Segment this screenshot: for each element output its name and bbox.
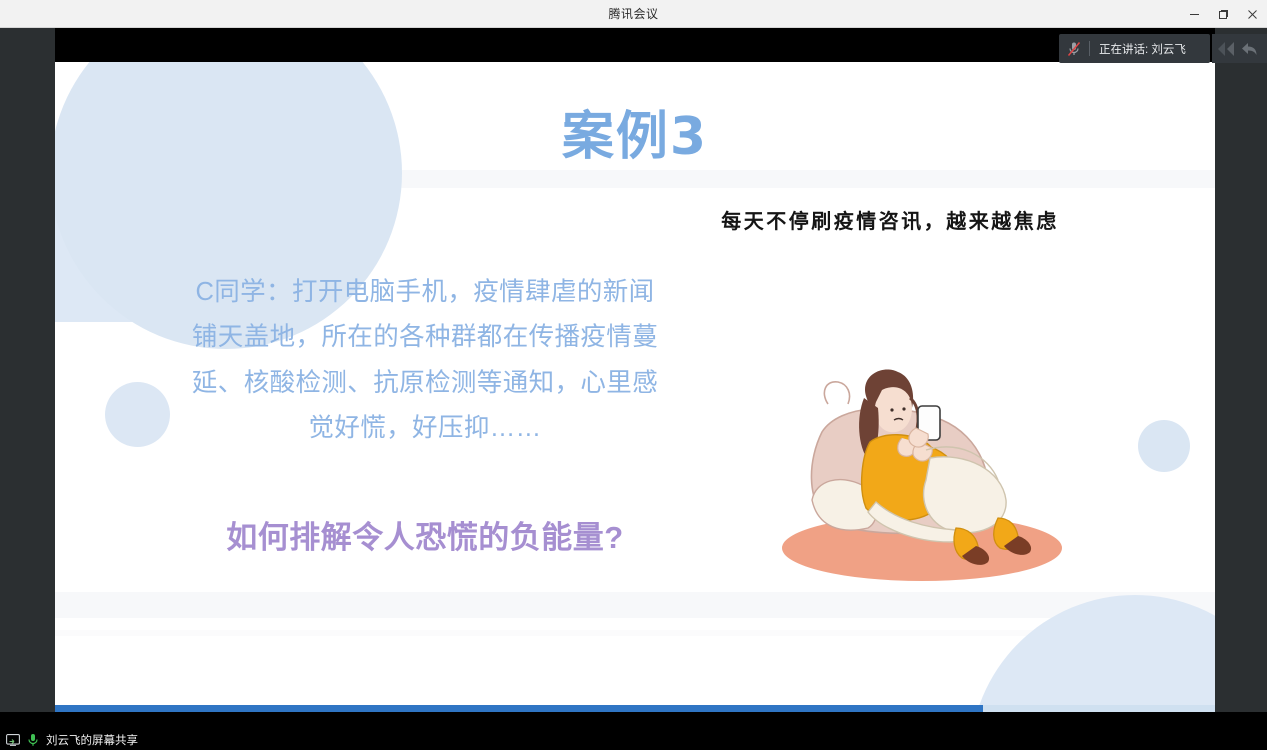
double-chevron-left-icon[interactable]: [1215, 41, 1237, 57]
slide-band-bottom: [55, 592, 1215, 618]
active-speaker-overlay[interactable]: 正在讲话: 刘云飞: [1059, 34, 1210, 63]
slide-body-text: C同学：打开电脑手机，疫情肆虐的新闻铺天盖地，所在的各种群都在传播疫情蔓延、核酸…: [185, 270, 665, 452]
decor-circle-right: [1138, 420, 1190, 472]
slide-title: 案例3: [55, 94, 1215, 169]
close-icon: [1247, 9, 1258, 20]
window-titlebar: 腾讯会议: [0, 0, 1267, 28]
taskbar-label: 刘云飞的屏幕共享: [46, 732, 138, 748]
slide-question: 如何排解令人恐慌的负能量?: [165, 512, 685, 557]
window-controls: [1180, 0, 1267, 28]
share-top-letterbox: [55, 28, 1215, 62]
speaking-label: 正在讲话: 刘云飞: [1090, 41, 1186, 57]
tencent-meeting-window: 腾讯会议: [0, 0, 1267, 750]
taskbar: 刘云飞的屏幕共享: [0, 730, 1267, 750]
minimize-button[interactable]: [1180, 0, 1209, 28]
shared-slide: 案例3 每天不停刷疫情咨讯，越来越焦虑 C同学：打开电脑手机，疫情肆虐的新闻铺天…: [55, 62, 1215, 712]
screen-share-icon[interactable]: [6, 734, 20, 746]
left-gutter: [0, 28, 55, 726]
share-bottom-letterbox: [0, 712, 1267, 730]
maximize-icon: [1218, 9, 1229, 20]
decor-circle-small-left: [105, 382, 170, 447]
close-button[interactable]: [1238, 0, 1267, 28]
share-overlay-controls: [1212, 34, 1267, 63]
right-gutter: [1215, 28, 1267, 726]
maximize-button[interactable]: [1209, 0, 1238, 28]
woman-sitting-beanbag-with-phone-illustration: [770, 352, 1070, 587]
window-title: 腾讯会议: [0, 5, 1267, 22]
slide-progress-bar: [55, 705, 1215, 712]
return-arrow-icon[interactable]: [1241, 41, 1258, 57]
handwritten-note: 每天不停刷疫情咨讯，越来越焦虑: [680, 202, 1100, 240]
microphone-muted-icon[interactable]: [1059, 41, 1089, 57]
minimize-icon: [1189, 9, 1200, 20]
slide-progress-fill: [55, 705, 983, 712]
microphone-active-icon[interactable]: [27, 733, 39, 747]
